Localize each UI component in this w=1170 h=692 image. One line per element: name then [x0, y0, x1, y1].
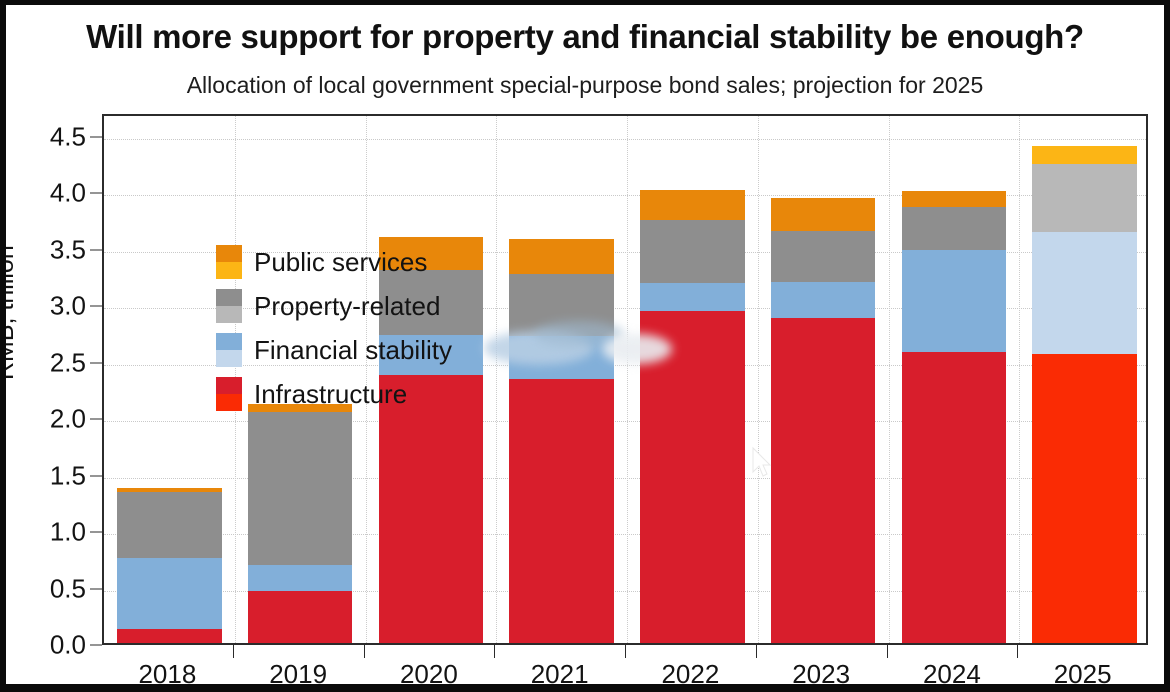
y-axis-tick-label: 3.0 — [0, 291, 86, 322]
legend-item-label: Public services — [254, 247, 427, 278]
y-axis-tick-mark — [90, 362, 102, 363]
x-axis-tick-mark — [887, 645, 888, 658]
bar-group[interactable] — [509, 112, 614, 643]
letterbox-top-bar — [0, 0, 1170, 5]
y-axis-tick-mark — [90, 306, 102, 307]
bar-segment[interactable] — [117, 558, 222, 629]
legend-swatch-projection — [216, 306, 242, 323]
y-axis-tick-label: 1.0 — [0, 517, 86, 548]
bar-segment[interactable] — [248, 591, 353, 643]
bar-segment[interactable] — [509, 336, 614, 379]
bar-segment[interactable] — [248, 412, 353, 566]
y-axis-tick-mark — [90, 588, 102, 589]
bar-segment[interactable] — [902, 352, 1007, 643]
bar-segment[interactable] — [509, 239, 614, 274]
legend-swatch-historical — [216, 245, 242, 262]
legend: Public servicesProperty-relatedFinancial… — [216, 240, 452, 416]
legend-swatch-historical — [216, 377, 242, 394]
x-axis-tick-mark — [364, 645, 365, 658]
legend-item[interactable]: Property-related — [216, 284, 452, 328]
letterbox-left-bar — [0, 0, 6, 692]
legend-swatch-historical — [216, 289, 242, 306]
bar-segment[interactable] — [902, 250, 1007, 352]
bar-segment[interactable] — [1032, 146, 1137, 164]
y-axis-tick-label: 1.5 — [0, 460, 86, 491]
y-axis-tick-label: 2.0 — [0, 404, 86, 435]
bar-segment[interactable] — [771, 318, 876, 643]
y-axis-tick-label: 2.5 — [0, 347, 86, 378]
legend-item-label: Financial stability — [254, 335, 452, 366]
legend-swatch-icon — [216, 245, 242, 279]
legend-item-label: Property-related — [254, 291, 440, 322]
bar-segment[interactable] — [1032, 164, 1137, 232]
legend-swatch-icon — [216, 333, 242, 367]
y-axis-tick-label: 4.5 — [0, 122, 86, 153]
chart-title: Will more support for property and finan… — [0, 18, 1170, 56]
legend-swatch-icon — [216, 289, 242, 323]
legend-swatch-icon — [216, 377, 242, 411]
bar-segment[interactable] — [117, 629, 222, 643]
bar-segment[interactable] — [509, 379, 614, 643]
legend-swatch-projection — [216, 394, 242, 411]
legend-item[interactable]: Financial stability — [216, 328, 452, 372]
bar-segment[interactable] — [771, 282, 876, 318]
bar-group[interactable] — [771, 112, 876, 643]
legend-item[interactable]: Public services — [216, 240, 452, 284]
bar-segment[interactable] — [771, 231, 876, 282]
y-axis-tick-mark — [90, 475, 102, 476]
legend-swatch-projection — [216, 350, 242, 367]
plot-area: Public servicesProperty-relatedFinancial… — [102, 114, 1148, 645]
bar-segment[interactable] — [117, 492, 222, 559]
bar-segment[interactable] — [771, 198, 876, 231]
bar-group[interactable] — [1032, 112, 1137, 643]
bar-segment[interactable] — [640, 190, 745, 219]
bar-segment[interactable] — [640, 283, 745, 311]
bar-segment[interactable] — [640, 311, 745, 643]
y-axis-tick-label: 3.5 — [0, 234, 86, 265]
y-axis-tick-label: 0.5 — [0, 573, 86, 604]
legend-swatch-projection — [216, 262, 242, 279]
bar-segment[interactable] — [117, 488, 222, 491]
x-axis-tick-mark — [625, 645, 626, 658]
bar-segment[interactable] — [902, 207, 1007, 250]
x-axis-tick-mark — [494, 645, 495, 658]
bar-segment[interactable] — [902, 191, 1007, 207]
letterbox-right-bar — [1164, 0, 1170, 692]
legend-item[interactable]: Infrastructure — [216, 372, 452, 416]
x-axis-tick-mark — [1017, 645, 1018, 658]
x-axis-tick-mark — [756, 645, 757, 658]
y-axis-tick-mark — [90, 532, 102, 533]
legend-swatch-historical — [216, 333, 242, 350]
bar-group[interactable] — [640, 112, 745, 643]
y-axis-tick-mark — [90, 137, 102, 138]
chart-page: Will more support for property and finan… — [0, 0, 1170, 692]
bar-segment[interactable] — [1032, 232, 1137, 354]
x-axis-tick-mark — [233, 645, 234, 658]
y-axis-tick-mark — [90, 419, 102, 420]
bar-segment[interactable] — [1032, 354, 1137, 643]
y-axis-tick-mark — [90, 645, 102, 646]
y-axis-tick-mark — [90, 249, 102, 250]
letterbox-bottom-bar — [0, 684, 1170, 692]
y-axis-tick-label: 0.0 — [0, 630, 86, 661]
bar-segment[interactable] — [640, 220, 745, 283]
bar-group[interactable] — [902, 112, 1007, 643]
bar-segment[interactable] — [509, 274, 614, 336]
bar-segment[interactable] — [248, 565, 353, 591]
y-axis-tick-mark — [90, 193, 102, 194]
legend-item-label: Infrastructure — [254, 379, 407, 410]
y-axis-tick-label: 4.0 — [0, 178, 86, 209]
bar-group[interactable] — [117, 112, 222, 643]
chart-subtitle: Allocation of local government special-p… — [0, 72, 1170, 99]
